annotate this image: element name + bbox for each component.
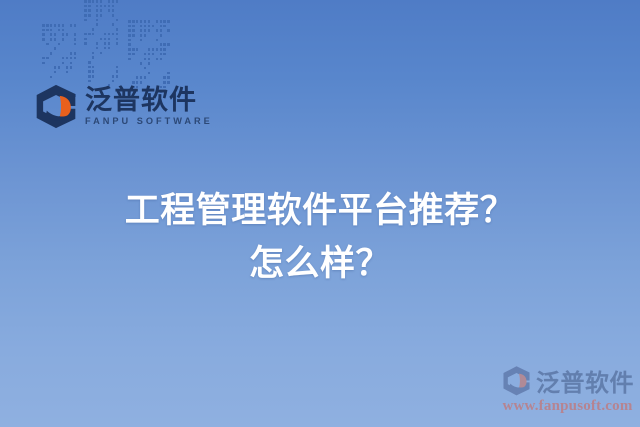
mosaic-cell [163, 67, 166, 70]
mosaic-cell [54, 66, 57, 69]
mosaic-row [128, 48, 172, 52]
mosaic-cell [46, 47, 49, 50]
mosaic-cell [58, 33, 61, 36]
mosaic-cell [167, 58, 170, 61]
mosaic-cell [128, 58, 131, 61]
mosaic-row [42, 24, 78, 28]
mosaic-cell [84, 75, 87, 78]
mosaic-cell [128, 72, 131, 75]
page-title: 工程管理软件平台推荐？ 怎么样？ [0, 184, 640, 290]
mosaic-cell [144, 76, 147, 79]
mosaic-cell [92, 61, 95, 64]
mosaic-cell [84, 70, 87, 73]
mosaic-cell [58, 71, 61, 74]
mosaic-cell [96, 33, 99, 36]
mosaic-cell [96, 23, 99, 26]
mosaic-cell [104, 19, 107, 22]
mosaic-cell [42, 57, 45, 60]
mosaic-cell [96, 14, 99, 17]
mosaic-cell [58, 66, 61, 69]
mosaic-row [42, 43, 78, 47]
mosaic-cell [88, 19, 91, 22]
mosaic-cell [163, 76, 166, 79]
mosaic-cell [42, 71, 45, 74]
mosaic-cell [148, 20, 151, 23]
mosaic-cell [148, 58, 151, 61]
mosaic-cell [156, 48, 159, 51]
mosaic-cell [140, 25, 143, 28]
mosaic-cell [132, 20, 135, 23]
mosaic-cell [88, 14, 91, 17]
mosaic-cell [88, 61, 91, 64]
mosaic-cell [96, 56, 99, 59]
mosaic-cell [92, 75, 95, 78]
mosaic-cell [58, 43, 61, 46]
mosaic-cell [144, 48, 147, 51]
mosaic-row [84, 42, 122, 46]
mosaic-cell [100, 80, 103, 83]
mosaic-cell [116, 75, 119, 78]
mosaic-cell [163, 20, 166, 23]
mosaic-cell [167, 48, 170, 51]
mosaic-cell [140, 72, 143, 75]
mosaic-cell [140, 20, 143, 23]
mosaic-cell [96, 52, 99, 55]
mosaic-cell [160, 43, 163, 46]
mosaic-cell [160, 62, 163, 65]
mosaic-cell [116, 66, 119, 69]
mosaic-cell [88, 28, 91, 31]
mosaic-cell [88, 23, 91, 26]
mosaic-cell [100, 70, 103, 73]
mosaic-cell [100, 5, 103, 8]
mosaic-cell [140, 29, 143, 32]
mosaic-cell [84, 23, 87, 26]
mosaic-cell [148, 25, 151, 28]
mosaic-cell [66, 76, 69, 79]
mosaic-cell [116, 0, 119, 3]
mosaic-cell [54, 38, 57, 41]
mosaic-cell [160, 58, 163, 61]
mosaic-cell [74, 66, 77, 69]
mosaic-cell [88, 0, 91, 3]
mosaic-cell [148, 29, 151, 32]
mosaic-cell [50, 66, 53, 69]
mosaic-cell [163, 58, 166, 61]
mosaic-cell [160, 29, 163, 32]
mosaic-cell [144, 20, 147, 23]
mosaic-cell [156, 20, 159, 23]
mosaic-cell [66, 33, 69, 36]
mosaic-cell [152, 20, 155, 23]
mosaic-cell [144, 34, 147, 37]
mosaic-cell [132, 76, 135, 79]
mosaic-cell [46, 33, 49, 36]
mosaic-cell [152, 76, 155, 79]
mosaic-cell [140, 43, 143, 46]
mosaic-cell [74, 24, 77, 27]
mosaic-cell [116, 61, 119, 64]
mosaic-cell [100, 9, 103, 12]
mosaic-cell [84, 66, 87, 69]
mosaic-cell [116, 23, 119, 26]
mosaic-cell [104, 52, 107, 55]
mosaic-cell [132, 34, 135, 37]
fanpu-swoosh-logo-icon [501, 365, 532, 396]
mosaic-cell [156, 34, 159, 37]
mosaic-cell [112, 0, 115, 3]
mosaic-cell [50, 24, 53, 27]
mosaic-cell [108, 80, 111, 83]
mosaic-cell [152, 34, 155, 37]
mosaic-cell [156, 72, 159, 75]
mosaic-cell [74, 57, 77, 60]
mosaic-cell [42, 33, 45, 36]
mosaic-cell [163, 53, 166, 56]
mosaic-cell [100, 28, 103, 31]
mosaic-cell [74, 29, 77, 32]
mosaic-cell [108, 52, 111, 55]
mosaic-cell [108, 5, 111, 8]
mosaic-cell [112, 61, 115, 64]
mosaic-row [84, 47, 122, 51]
mosaic-cell [132, 53, 135, 56]
mosaic-cell [104, 42, 107, 45]
mosaic-cell [70, 57, 73, 60]
mosaic-cell [104, 33, 107, 36]
mosaic-cell [136, 76, 139, 79]
mosaic-cell [74, 38, 77, 41]
mosaic-cell [152, 58, 155, 61]
mosaic-cell [50, 62, 53, 65]
mosaic-cell [163, 48, 166, 51]
mosaic-cell [160, 39, 163, 42]
mosaic-cell [156, 58, 159, 61]
mosaic-cell [144, 53, 147, 56]
mosaic-cell [156, 53, 159, 56]
mosaic-cell [46, 52, 49, 55]
mosaic-cell [66, 47, 69, 50]
mosaic-cell [128, 20, 131, 23]
mosaic-cell [58, 52, 61, 55]
mosaic-cell [70, 71, 73, 74]
mosaic-cell [66, 29, 69, 32]
mosaic-cell [54, 33, 57, 36]
mosaic-cell [167, 67, 170, 70]
mosaic-cell [116, 19, 119, 22]
mosaic-cell [58, 76, 61, 79]
mosaic-cell [128, 76, 131, 79]
mosaic-cell [160, 48, 163, 51]
mosaic-cell [88, 33, 91, 36]
mosaic-cell [112, 28, 115, 31]
mosaic-cell [66, 52, 69, 55]
mosaic-row [128, 25, 172, 29]
mosaic-cell [112, 70, 115, 73]
mosaic-cell [74, 62, 77, 65]
mosaic-cell [128, 39, 131, 42]
mosaic-cell [163, 62, 166, 65]
mosaic-cell [66, 57, 69, 60]
mosaic-row [84, 52, 122, 56]
mosaic-cell [62, 38, 65, 41]
mosaic-cell [54, 24, 57, 27]
mosaic-cell [140, 34, 143, 37]
mosaic-cell [70, 24, 73, 27]
mosaic-cell [112, 80, 115, 83]
mosaic-cell [66, 62, 69, 65]
mosaic-cell [50, 57, 53, 60]
mosaic-cell [112, 75, 115, 78]
mosaic-cell [58, 47, 61, 50]
mosaic-cell [50, 71, 53, 74]
mosaic-cell [104, 47, 107, 50]
pixel-mosaic-columns-icon [40, 0, 175, 86]
mosaic-cell [167, 76, 170, 79]
mosaic-cell [148, 53, 151, 56]
mosaic-cell [104, 70, 107, 73]
mosaic-row [42, 66, 78, 70]
mosaic-cell [96, 70, 99, 73]
mosaic-cell [108, 23, 111, 26]
mosaic-cell [152, 53, 155, 56]
mosaic-cell [156, 43, 159, 46]
mosaic-cell [104, 9, 107, 12]
mosaic-cell [136, 20, 139, 23]
mosaic-cell [132, 72, 135, 75]
mosaic-cell [42, 24, 45, 27]
mosaic-cell [104, 80, 107, 83]
mosaic-cell [140, 53, 143, 56]
mosaic-cell [50, 47, 53, 50]
mosaic-cell [46, 38, 49, 41]
mosaic-cell [112, 42, 115, 45]
mosaic-cell [96, 75, 99, 78]
mosaic-cell [167, 53, 170, 56]
mosaic-cell [156, 62, 159, 65]
mosaic-cell [84, 42, 87, 45]
mosaic-cell [116, 33, 119, 36]
mosaic-cell [156, 29, 159, 32]
mosaic-row [84, 23, 122, 27]
mosaic-cell [144, 62, 147, 65]
mosaic-cell [128, 25, 131, 28]
mosaic-cell [167, 43, 170, 46]
mosaic-cell [140, 62, 143, 65]
mosaic-cell [104, 56, 107, 59]
mosaic-cell [100, 0, 103, 3]
mosaic-cell [42, 29, 45, 32]
mosaic-cell [136, 48, 139, 51]
mosaic-row [128, 43, 172, 47]
mosaic-cell [132, 48, 135, 51]
mosaic-cell [108, 0, 111, 3]
mosaic-cell [58, 57, 61, 60]
mosaic-cell [70, 66, 73, 69]
mosaic-cell [112, 66, 115, 69]
mosaic-cell [140, 58, 143, 61]
mosaic-cell [62, 24, 65, 27]
mosaic-cell [70, 52, 73, 55]
mosaic-cell [116, 38, 119, 41]
mosaic-cell [54, 47, 57, 50]
mosaic-cell [92, 23, 95, 26]
mosaic-cell [88, 38, 91, 41]
mosaic-cell [54, 62, 57, 65]
mosaic-cell [84, 61, 87, 64]
mosaic-cell [136, 58, 139, 61]
mosaic-cell [163, 29, 166, 32]
mosaic-cell [140, 76, 143, 79]
mosaic-cell [104, 38, 107, 41]
mosaic-row [84, 56, 122, 60]
mosaic-cell [108, 47, 111, 50]
mosaic-row [128, 76, 172, 80]
mosaic-cell [136, 34, 139, 37]
mosaic-cell [112, 52, 115, 55]
mosaic-cell [88, 9, 91, 12]
mosaic-cell [62, 76, 65, 79]
mosaic-cell [136, 25, 139, 28]
mosaic-cell [70, 29, 73, 32]
mosaic-cell [88, 5, 91, 8]
mosaic-cell [160, 67, 163, 70]
mosaic-column [84, 0, 122, 86]
mosaic-cell [66, 24, 69, 27]
mosaic-cell [96, 0, 99, 3]
mosaic-cell [92, 80, 95, 83]
mosaic-cell [100, 61, 103, 64]
mosaic-cell [136, 29, 139, 32]
mosaic-cell [144, 58, 147, 61]
mosaic-row [128, 34, 172, 38]
mosaic-cell [88, 66, 91, 69]
mosaic-row [42, 38, 78, 42]
mosaic-cell [88, 70, 91, 73]
mosaic-cell [136, 67, 139, 70]
mosaic-cell [70, 38, 73, 41]
mosaic-cell [116, 47, 119, 50]
mosaic-cell [152, 25, 155, 28]
mosaic-cell [84, 33, 87, 36]
mosaic-cell [104, 23, 107, 26]
mosaic-cell [92, 19, 95, 22]
mosaic-cell [42, 52, 45, 55]
mosaic-cell [167, 62, 170, 65]
mosaic-row [128, 29, 172, 33]
mosaic-cell [128, 48, 131, 51]
mosaic-row [84, 33, 122, 37]
fanpu-swoosh-logo-icon [33, 83, 79, 129]
mosaic-cell [128, 62, 131, 65]
mosaic-cell [50, 38, 53, 41]
watermark: 泛普软件 www.fanpusoft.com [501, 363, 634, 415]
mosaic-cell [66, 43, 69, 46]
mosaic-row [128, 20, 172, 24]
mosaic-cell [42, 47, 45, 50]
mosaic-cell [66, 71, 69, 74]
mosaic-cell [163, 72, 166, 75]
mosaic-cell [54, 71, 57, 74]
mosaic-cell [108, 14, 111, 17]
mosaic-cell [112, 23, 115, 26]
mosaic-cell [160, 34, 163, 37]
mosaic-cell [100, 56, 103, 59]
mosaic-cell [148, 67, 151, 70]
mosaic-cell [148, 43, 151, 46]
mosaic-cell [70, 43, 73, 46]
mosaic-row [42, 76, 78, 80]
mosaic-cell [112, 9, 115, 12]
mosaic-cell [46, 43, 49, 46]
mosaic-cell [84, 56, 87, 59]
mosaic-cell [156, 76, 159, 79]
mosaic-row [42, 71, 78, 75]
mosaic-cell [88, 47, 91, 50]
mosaic-cell [132, 58, 135, 61]
promo-banner: 泛普软件 FANPU SOFTWARE 工程管理软件平台推荐？ 怎么样？ 泛普软… [0, 0, 640, 427]
mosaic-cell [54, 52, 57, 55]
mosaic-cell [148, 34, 151, 37]
mosaic-cell [148, 39, 151, 42]
mosaic-cell [112, 33, 115, 36]
mosaic-row [128, 72, 172, 76]
mosaic-cell [70, 47, 73, 50]
mosaic-cell [46, 57, 49, 60]
mosaic-cell [104, 61, 107, 64]
mosaic-row [128, 62, 172, 66]
mosaic-cell [88, 80, 91, 83]
mosaic-cell [140, 48, 143, 51]
mosaic-cell [152, 29, 155, 32]
mosaic-cell [42, 76, 45, 79]
mosaic-cell [74, 52, 77, 55]
mosaic-cell [46, 66, 49, 69]
mosaic-cell [156, 25, 159, 28]
mosaic-cell [96, 61, 99, 64]
mosaic-cell [84, 52, 87, 55]
mosaic-cell [136, 62, 139, 65]
mosaic-cell [132, 29, 135, 32]
mosaic-cell [46, 76, 49, 79]
mosaic-cell [74, 33, 77, 36]
mosaic-cell [132, 25, 135, 28]
mosaic-cell [136, 39, 139, 42]
mosaic-cell [108, 70, 111, 73]
mosaic-row [84, 75, 122, 79]
mosaic-cell [42, 62, 45, 65]
mosaic-cell [163, 43, 166, 46]
mosaic-cell [148, 48, 151, 51]
mosaic-cell [167, 29, 170, 32]
mosaic-cell [92, 70, 95, 73]
mosaic-row [42, 57, 78, 61]
mosaic-cell [96, 42, 99, 45]
mosaic-cell [112, 5, 115, 8]
mosaic-cell [62, 57, 65, 60]
mosaic-cell [104, 0, 107, 3]
mosaic-cell [116, 52, 119, 55]
mosaic-cell [148, 72, 151, 75]
mosaic-column [128, 20, 172, 86]
mosaic-cell [54, 29, 57, 32]
mosaic-cell [152, 67, 155, 70]
page-title-line-1: 工程管理软件平台推荐？ [0, 184, 640, 237]
mosaic-cell [62, 62, 65, 65]
mosaic-cell [108, 56, 111, 59]
mosaic-row [128, 58, 172, 62]
mosaic-cell [167, 20, 170, 23]
